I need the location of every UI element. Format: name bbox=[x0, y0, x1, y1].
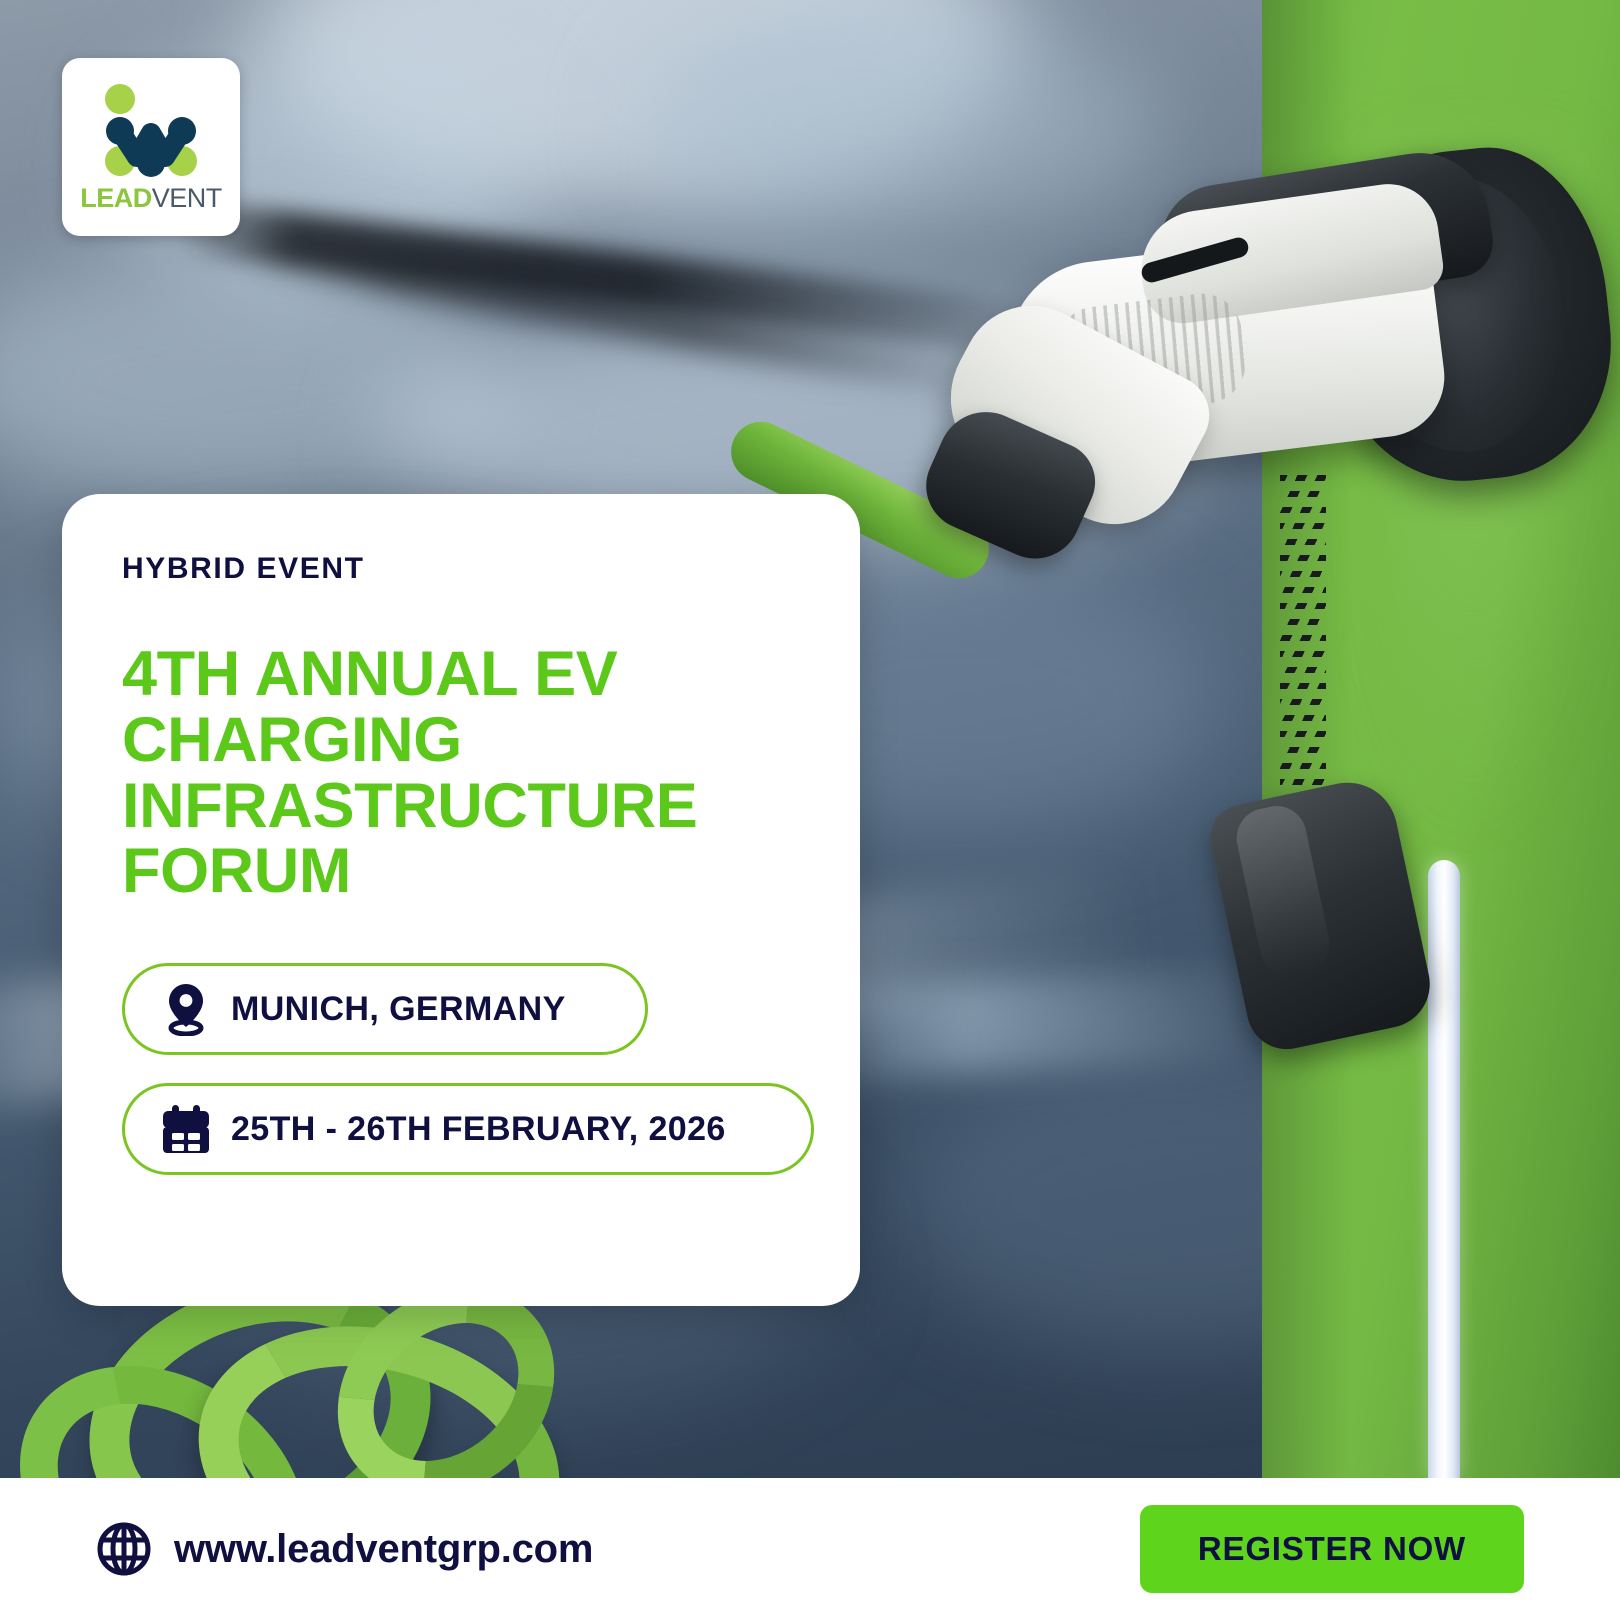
website-url-text: www.leadventgrp.com bbox=[174, 1527, 593, 1572]
location-pin-icon bbox=[159, 982, 213, 1036]
bokeh-highlight bbox=[260, 0, 1020, 210]
charging-post-led-strip bbox=[1428, 860, 1460, 1478]
event-info-card: HYBRID EVENT 4TH ANNUAL EV CHARGING INFR… bbox=[62, 494, 860, 1306]
event-date-text: 25TH - 26TH FEBRUARY, 2026 bbox=[231, 1110, 726, 1149]
event-location-pill: MUNICH, GERMANY bbox=[122, 963, 648, 1055]
event-date-pill: 25TH - 26TH FEBRUARY, 2026 bbox=[122, 1083, 814, 1175]
event-title: 4TH ANNUAL EV CHARGING INFRASTRUCTURE FO… bbox=[122, 642, 800, 905]
globe-icon bbox=[96, 1521, 152, 1577]
brand-wordmark: LEADVENT bbox=[80, 185, 222, 212]
register-now-button[interactable]: REGISTER NOW bbox=[1140, 1505, 1524, 1593]
event-location-text: MUNICH, GERMANY bbox=[231, 990, 566, 1029]
website-link[interactable]: www.leadventgrp.com bbox=[96, 1521, 593, 1577]
footer-bar: www.leadventgrp.com REGISTER NOW bbox=[0, 1478, 1620, 1620]
brand-name-vent: VENT bbox=[152, 183, 222, 213]
bokeh-highlight bbox=[640, 10, 1160, 240]
brand-logo-badge[interactable]: LEADVENT bbox=[62, 58, 240, 236]
event-type-label: HYBRID EVENT bbox=[122, 552, 800, 586]
calendar-icon bbox=[159, 1102, 213, 1156]
brand-name-lead: LEAD bbox=[80, 183, 152, 213]
event-poster: LEADVENT HYBRID EVENT 4TH ANNUAL EV CHAR… bbox=[0, 0, 1620, 1620]
leadvent-molecule-logo-icon bbox=[95, 83, 207, 181]
